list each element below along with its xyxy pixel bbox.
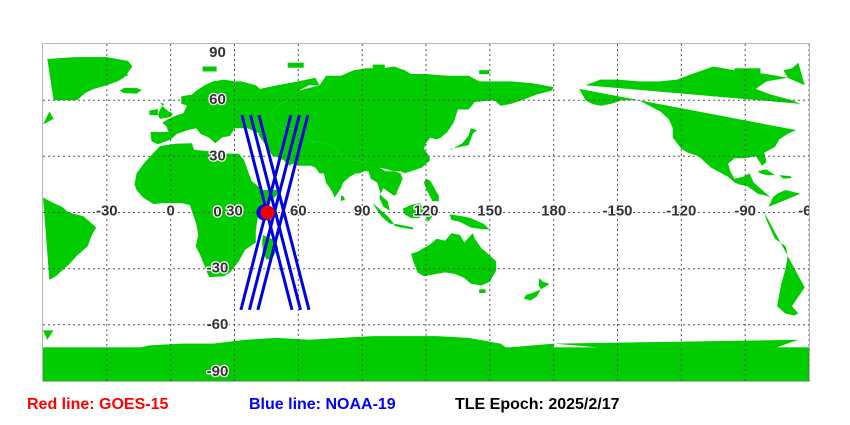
land-tasmania xyxy=(479,289,485,293)
lat-tick-label-0: 0 xyxy=(213,203,221,220)
map-svg: -300306090120150180-150-120-90-609060300… xyxy=(43,44,809,381)
lon-tick-label-180: 180 xyxy=(541,202,566,219)
lon-tick-label--120: -120 xyxy=(666,202,696,219)
lon-tick-label-0: 0 xyxy=(167,202,175,219)
lat-tick-label--90: -90 xyxy=(207,363,229,380)
lon-tick-label--30: -30 xyxy=(96,202,118,219)
lat-tick-label-60: 60 xyxy=(209,91,226,108)
legend-tle-epoch: TLE Epoch: 2025/2/17 xyxy=(455,396,620,414)
land-arctic-island-0 xyxy=(203,67,217,72)
lat-tick-label-30: 30 xyxy=(209,147,226,164)
satellite-ground-track-app: -300306090120150180-150-120-90-609060300… xyxy=(0,0,850,425)
land-arctic-island-3 xyxy=(735,68,761,74)
lon-tick-label-60: 60 xyxy=(290,202,307,219)
goes15-position-marker[interactable] xyxy=(261,206,275,220)
lon-tick-label-120: 120 xyxy=(413,202,438,219)
lon-tick-label-30: 30 xyxy=(226,202,243,219)
lon-tick-label--60: -60 xyxy=(798,202,809,219)
lon-tick-label--90: -90 xyxy=(734,202,756,219)
lon-tick-label-150: 150 xyxy=(477,202,502,219)
legend-blue-line-noaa19: Blue line: NOAA-19 xyxy=(249,396,396,414)
legend-red-line-goes15: Red line: GOES-15 xyxy=(27,396,168,414)
land-arctic-island-4 xyxy=(118,72,128,76)
lon-tick-label--150: -150 xyxy=(602,202,632,219)
lon-tick-label-90: 90 xyxy=(354,202,371,219)
land-arctic-island-2 xyxy=(373,65,385,69)
lat-tick-label-90: 90 xyxy=(209,44,226,61)
world-map-plot[interactable]: -300306090120150180-150-120-90-609060300… xyxy=(42,43,810,382)
lat-tick-label--60: -60 xyxy=(207,316,229,333)
land-arctic-island-5 xyxy=(479,70,489,74)
lat-tick-label--30: -30 xyxy=(207,260,229,277)
land-arctic-island-1 xyxy=(288,63,304,68)
legend-bar: Red line: GOES-15 Blue line: NOAA-19 TLE… xyxy=(0,392,850,425)
